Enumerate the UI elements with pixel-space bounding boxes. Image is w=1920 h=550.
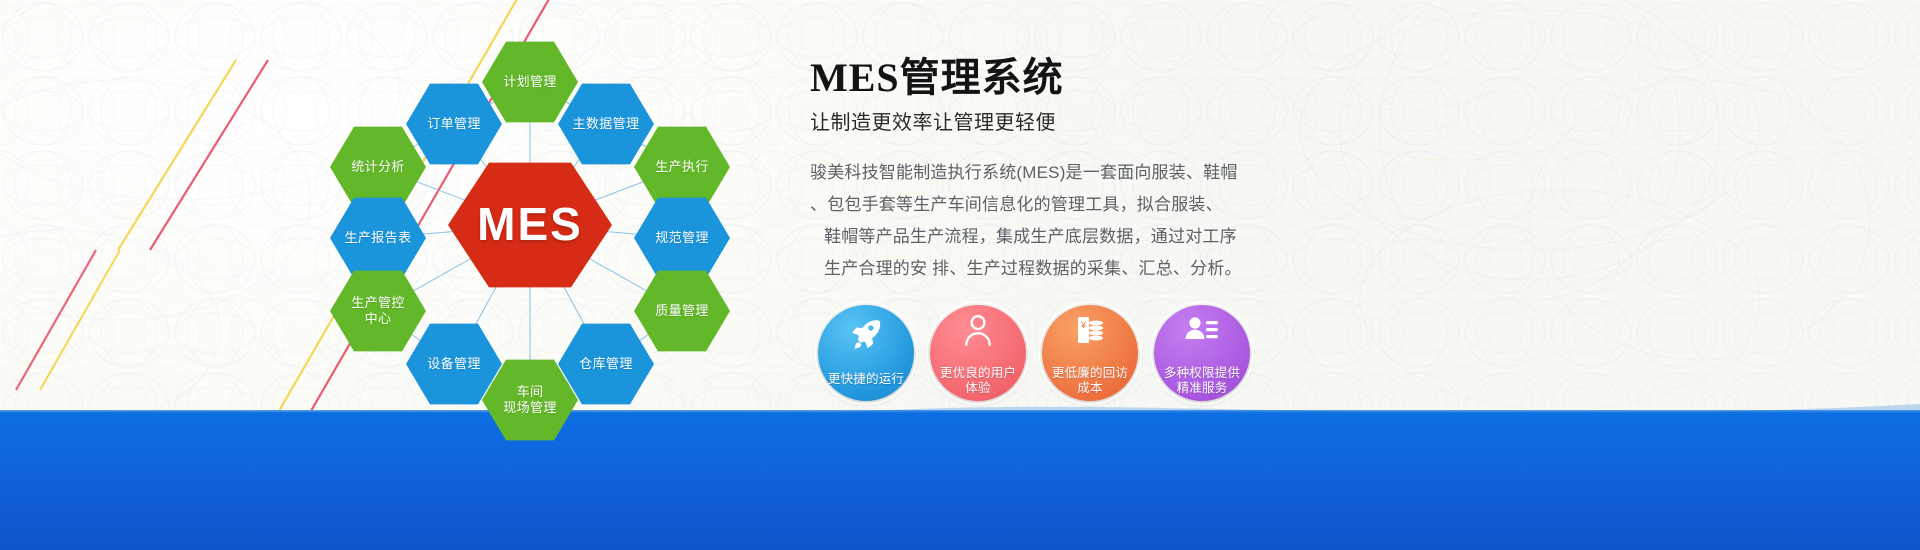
diagram-node-label: 计划管理: [503, 74, 557, 90]
coins-icon: ¥: [1042, 313, 1138, 347]
badge-label: 更优良的用户体验: [932, 366, 1024, 401]
user-icon: [930, 313, 1026, 347]
svg-text:¥: ¥: [1080, 320, 1087, 330]
diagram-node-label: 设备管理: [427, 356, 481, 372]
diagram-node-label: 规范管理: [655, 230, 709, 246]
paragraph-line: 、包包手套等生产车间信息化的管理工具，拟合服装、: [810, 189, 1290, 221]
diagram-node-label: 订单管理: [427, 116, 481, 132]
hero-paragraph: 骏美科技智能制造执行系统(MES)是一套面向服装、鞋帽 、包包手套等生产车间信息…: [810, 157, 1290, 285]
page-subtitle: 让制造更效率让管理更轻便: [810, 106, 1290, 135]
badge-label: 更快捷的运行: [820, 372, 912, 401]
feature-badge-multi-permission[interactable]: 多种权限提供精准服务: [1154, 305, 1250, 401]
diagram-center-label: MES: [477, 196, 583, 254]
rocket-icon: [818, 317, 914, 351]
mes-hexagon-diagram: MES 计划管理 订单管理 主数据管理 统计分析 生产执行 生产报告表 规范管理…: [330, 10, 790, 440]
diagram-node-label: 仓库管理: [579, 356, 633, 372]
badge-label: 多种权限提供精准服务: [1156, 366, 1248, 401]
paragraph-line: 鞋帽等产品生产流程，集成生产底层数据，通过对工序: [810, 221, 1290, 253]
diagram-node-label: 主数据管理: [572, 116, 639, 132]
feature-badge-better-user-experience[interactable]: 更优良的用户体验: [930, 305, 1026, 401]
diagram-node-label: 生产管控 中心: [351, 295, 405, 328]
diagram-node-label: 统计分析: [351, 159, 405, 175]
hero-text-column: MES管理系统 让制造更效率让管理更轻便 骏美科技智能制造执行系统(MES)是一…: [810, 56, 1290, 285]
paragraph-line: 骏美科技智能制造执行系统(MES)是一套面向服装、鞋帽: [810, 157, 1290, 189]
feature-badge-faster-operation[interactable]: 更快捷的运行: [818, 305, 914, 401]
diagram-node-label: 车间 现场管理: [503, 384, 557, 417]
hero-banner: MES 计划管理 订单管理 主数据管理 统计分析 生产执行 生产报告表 规范管理…: [0, 0, 1920, 550]
diagram-node-label: 生产执行: [655, 159, 709, 175]
badge-label: 更低廉的回访成本: [1044, 366, 1136, 401]
page-title: MES管理系统: [810, 56, 1290, 100]
diagram-node-label: 生产报告表: [344, 230, 411, 246]
feature-badge-row: 更快捷的运行 更优良的用户体验: [818, 305, 1278, 405]
permission-icon: [1154, 313, 1250, 347]
diagram-node-label: 质量管理: [655, 303, 709, 319]
paragraph-line: 生产合理的安 排、生产过程数据的采集、汇总、分析。: [810, 253, 1290, 285]
feature-badge-lower-visit-cost[interactable]: ¥ 更低廉的回访成本: [1042, 305, 1138, 401]
